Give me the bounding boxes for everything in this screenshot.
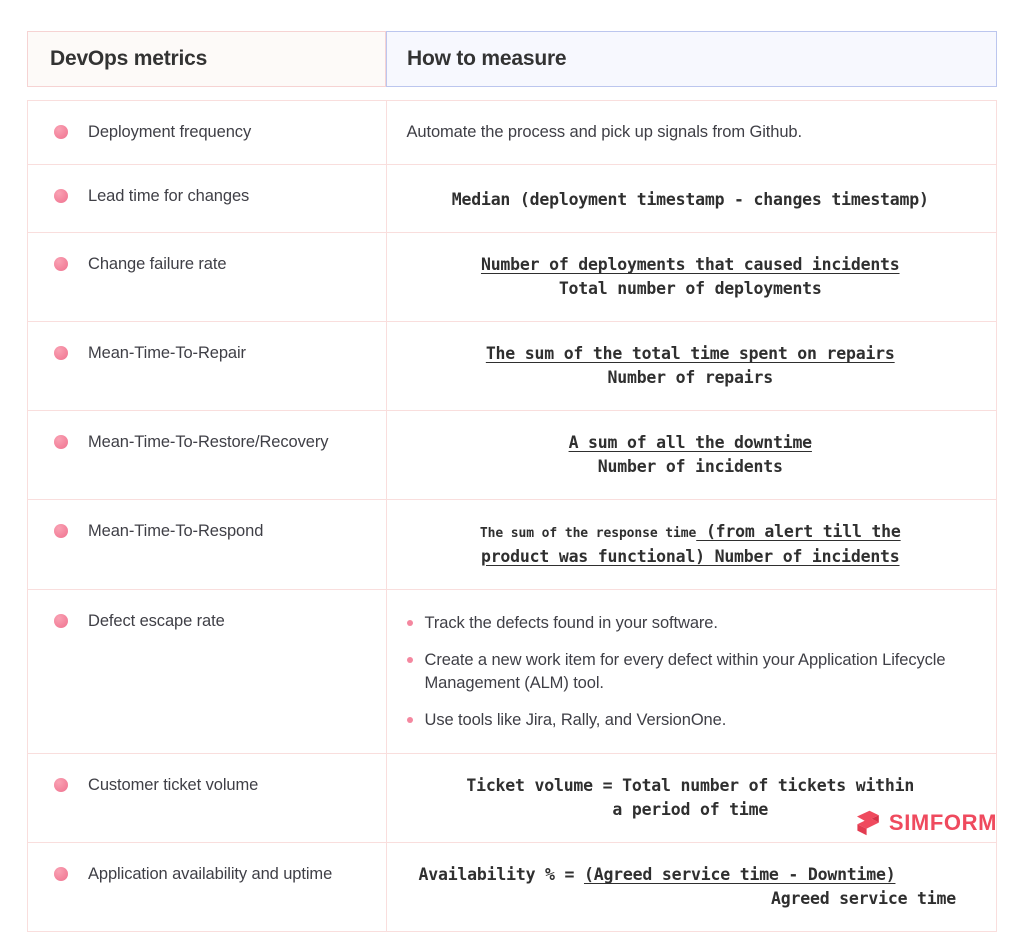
formula-numerator: The sum of the total time spent on repai…: [486, 344, 895, 363]
bullet-dot-icon: [54, 346, 68, 360]
measure-formula-fraction: A sum of all the downtime Number of inci…: [407, 431, 975, 479]
header-label-metric: DevOps metrics: [50, 47, 207, 70]
formula-line: Median (deployment timestamp - changes t…: [407, 188, 975, 212]
formula-line-1: Ticket volume = Total number of tickets …: [407, 774, 975, 798]
metric-label: Defect escape rate: [88, 611, 225, 632]
bullet-dot-icon: [54, 867, 68, 881]
metric-label: Lead time for changes: [88, 186, 249, 207]
metric-label: Mean-Time-To-Restore/Recovery: [88, 432, 328, 453]
measure-bullet-list: Track the defects found in your software…: [407, 612, 975, 731]
metric-cell: Mean-Time-To-Repair: [28, 322, 386, 411]
bullet-dot-icon: [54, 778, 68, 792]
metric-label: Mean-Time-To-Repair: [88, 343, 246, 364]
table-row: Mean-Time-To-Respond The sum of the resp…: [28, 499, 996, 590]
formula-prefix: The sum of the response time: [480, 526, 696, 541]
bullet-dot-icon: [54, 435, 68, 449]
devops-metrics-infographic: DevOps metrics How to measure: [0, 0, 1024, 852]
measure-cell: The sum of the response time (from alert…: [386, 499, 996, 590]
bullet-dot-icon: [54, 524, 68, 538]
formula-denominator: Total number of deployments: [407, 277, 975, 301]
bullet-dot-icon: [54, 614, 68, 628]
table-row: Mean-Time-To-Repair The sum of the total…: [28, 322, 996, 411]
measure-formula: Median (deployment timestamp - changes t…: [407, 185, 975, 212]
measure-cell: Automate the process and pick up signals…: [386, 101, 996, 165]
table-row: Customer ticket volume Ticket volume = T…: [28, 754, 996, 843]
brand-name: SIMFORM: [889, 810, 997, 836]
metric-label: Deployment frequency: [88, 122, 251, 143]
formula-denominator: Number of incidents: [407, 455, 975, 479]
formula-numerator: A sum of all the downtime: [569, 433, 812, 452]
header-cell-metric: DevOps metrics: [27, 31, 386, 87]
formula-numerator: Number of deployments that caused incide…: [481, 255, 900, 274]
table-body-container: Deployment frequency Automate the proces…: [27, 100, 997, 932]
measure-formula-fraction: The sum of the total time spent on repai…: [407, 342, 975, 390]
list-item: Track the defects found in your software…: [407, 612, 975, 635]
metric-label: Application availability and uptime: [88, 864, 332, 885]
measure-formula-equation-fraction: Availability % = (Agreed service time - …: [407, 863, 975, 911]
measure-cell: Availability % = (Agreed service time - …: [386, 843, 996, 931]
measure-text: Automate the process and pick up signals…: [407, 121, 975, 143]
metric-label: Customer ticket volume: [88, 775, 258, 796]
formula-numerator: (Agreed service time - Downtime): [584, 865, 895, 884]
header-cell-measure: How to measure: [386, 31, 997, 87]
table-row: Lead time for changes Median (deployment…: [28, 165, 996, 233]
brand-logo: SIMFORM: [854, 808, 997, 838]
measure-cell: A sum of all the downtime Number of inci…: [386, 411, 996, 500]
table-row: Deployment frequency Automate the proces…: [28, 101, 996, 165]
formula-lead: Availability % =: [419, 865, 584, 884]
table-row: Defect escape rate Track the defects fou…: [28, 590, 996, 754]
formula-underlined-part1: (from alert till the: [696, 522, 900, 541]
table-row: Change failure rate Number of deployment…: [28, 233, 996, 322]
bullet-dot-icon: [54, 257, 68, 271]
header-label-measure: How to measure: [407, 47, 566, 70]
metric-cell: Change failure rate: [28, 233, 386, 322]
table-header: DevOps metrics How to measure: [27, 31, 997, 87]
list-item: Use tools like Jira, Rally, and VersionO…: [407, 709, 975, 732]
metric-cell: Application availability and uptime: [28, 843, 386, 931]
metric-cell: Mean-Time-To-Respond: [28, 499, 386, 590]
measure-cell: The sum of the total time spent on repai…: [386, 322, 996, 411]
bullet-dot-icon: [54, 189, 68, 203]
formula-underlined-part2: product was functional) Number of incide…: [481, 547, 900, 566]
measure-cell: Track the defects found in your software…: [386, 590, 996, 754]
measure-cell: Number of deployments that caused incide…: [386, 233, 996, 322]
metric-cell: Lead time for changes: [28, 165, 386, 233]
metric-cell: Mean-Time-To-Restore/Recovery: [28, 411, 386, 500]
table-row: Application availability and uptime Avai…: [28, 843, 996, 931]
measure-formula-fraction: Number of deployments that caused incide…: [407, 253, 975, 301]
metric-cell: Customer ticket volume: [28, 754, 386, 843]
metric-label: Change failure rate: [88, 254, 226, 275]
list-item: Create a new work item for every defect …: [407, 649, 975, 695]
measure-formula-inline-fraction: The sum of the response time (from alert…: [407, 520, 975, 570]
bullet-dot-icon: [54, 125, 68, 139]
metric-label: Mean-Time-To-Respond: [88, 521, 263, 542]
simform-logo-icon: [854, 810, 882, 836]
metric-cell: Deployment frequency: [28, 101, 386, 165]
header-row: DevOps metrics How to measure: [27, 31, 997, 87]
metric-cell: Defect escape rate: [28, 590, 386, 754]
table-row: Mean-Time-To-Restore/Recovery A sum of a…: [28, 411, 996, 500]
metrics-table: Deployment frequency Automate the proces…: [28, 101, 996, 931]
formula-denominator: Number of repairs: [407, 366, 975, 390]
measure-cell: Median (deployment timestamp - changes t…: [386, 165, 996, 233]
formula-denominator: Agreed service time: [419, 887, 975, 911]
